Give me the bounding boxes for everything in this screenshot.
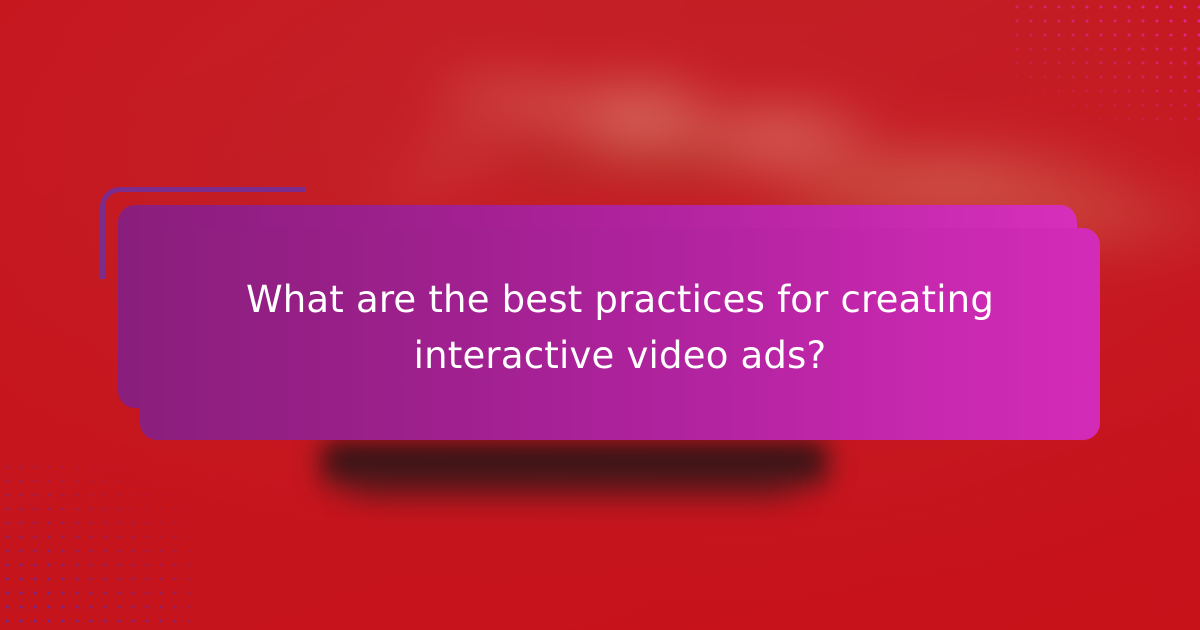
- share-card-canvas: What are the best practices for creating…: [0, 0, 1200, 630]
- background-device-shadow-secondary: [352, 470, 792, 496]
- page-title: What are the best practices for creating…: [140, 272, 1100, 384]
- headline-line-1: What are the best practices for creating: [180, 272, 1060, 328]
- halftone-dots-bottom-left-icon: [0, 460, 190, 630]
- question-card: What are the best practices for creating…: [140, 228, 1100, 440]
- halftone-dots-top-right-icon: [1010, 0, 1200, 130]
- headline-line-2: interactive video ads?: [180, 328, 1060, 384]
